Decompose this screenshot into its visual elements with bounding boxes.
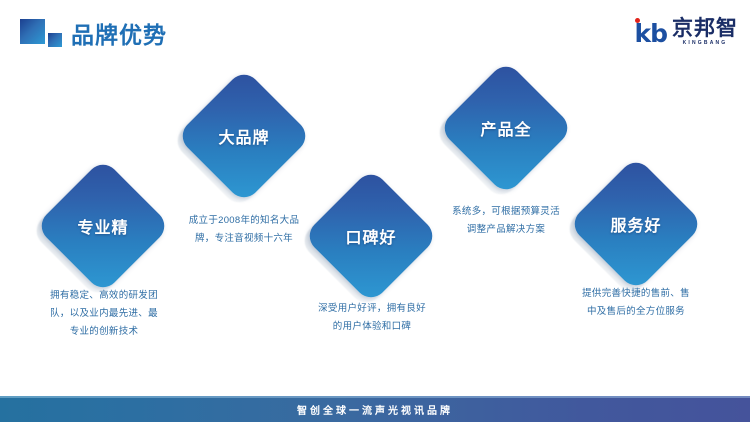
advantage-desc-3-line-2: 的用户体验和口碑 [288,318,456,336]
logo-mark-icon: kb [634,21,667,46]
decorative-square-small [48,33,62,47]
logo-wordmark: 京邦智 KINGBANG [672,18,738,46]
advantage-desc-3: 深受用户好评，拥有良好 的用户体验和口碑 [288,300,456,336]
advantage-label-1: 专业精 [55,178,151,274]
footer-slogan: 智创全球一流声光视讯品牌 [297,402,453,417]
footer-highlight-line [0,396,750,398]
logo-name-cn: 京邦智 [672,18,738,39]
advantage-desc-1-line-3: 专业的创新技术 [20,323,188,341]
advantage-desc-1-line-1: 拥有稳定、高效的研发团 [20,287,188,305]
advantage-desc-4: 系统多，可根据预算灵活 调整产品解决方案 [422,203,590,239]
logo-name-en: KINGBANG [683,41,728,46]
advantage-desc-5-line-2: 中及售后的全方位服务 [552,303,720,321]
logo-red-dot-icon [635,18,640,23]
slide-header: 品牌优势 kb 京邦智 KINGBANG [0,0,750,60]
advantage-desc-3-line-1: 深受用户好评，拥有良好 [288,300,456,318]
diamond-shape-2[interactable]: 大品牌 [196,88,292,184]
slide-footer: 智创全球一流声光视讯品牌 [0,396,750,422]
advantage-label-4: 产品全 [458,80,554,176]
advantage-label-2: 大品牌 [196,88,292,184]
advantage-desc-2-line-2: 牌，专注音视频十六年 [160,230,328,248]
advantage-desc-1-line-2: 队，以及业内最先进、最 [20,305,188,323]
company-logo: kb 京邦智 KINGBANG [634,14,738,46]
diamond-shape-3[interactable]: 口碑好 [323,188,419,284]
diamond-shape-5[interactable]: 服务好 [588,176,684,272]
advantage-desc-2: 成立于2008年的知名大品 牌，专注音视频十六年 [160,212,328,248]
advantage-desc-1: 拥有稳定、高效的研发团 队，以及业内最先进、最 专业的创新技术 [20,287,188,341]
advantage-label-5: 服务好 [588,176,684,272]
advantage-desc-4-line-1: 系统多，可根据预算灵活 [422,203,590,221]
diamond-shape-1[interactable]: 专业精 [55,178,151,274]
advantage-label-3: 口碑好 [323,188,419,284]
page-title: 品牌优势 [71,16,167,50]
advantage-desc-5-line-1: 提供完善快捷的售前、售 [552,285,720,303]
slide-canvas: 品牌优势 kb 京邦智 KINGBANG 专业精 拥有稳定、高效的研发团 队，以… [0,0,750,422]
decorative-square-large [20,19,45,44]
advantage-desc-4-line-2: 调整产品解决方案 [422,221,590,239]
advantage-desc-5: 提供完善快捷的售前、售 中及售后的全方位服务 [552,285,720,321]
diamond-shape-4[interactable]: 产品全 [458,80,554,176]
advantage-desc-2-line-1: 成立于2008年的知名大品 [160,212,328,230]
